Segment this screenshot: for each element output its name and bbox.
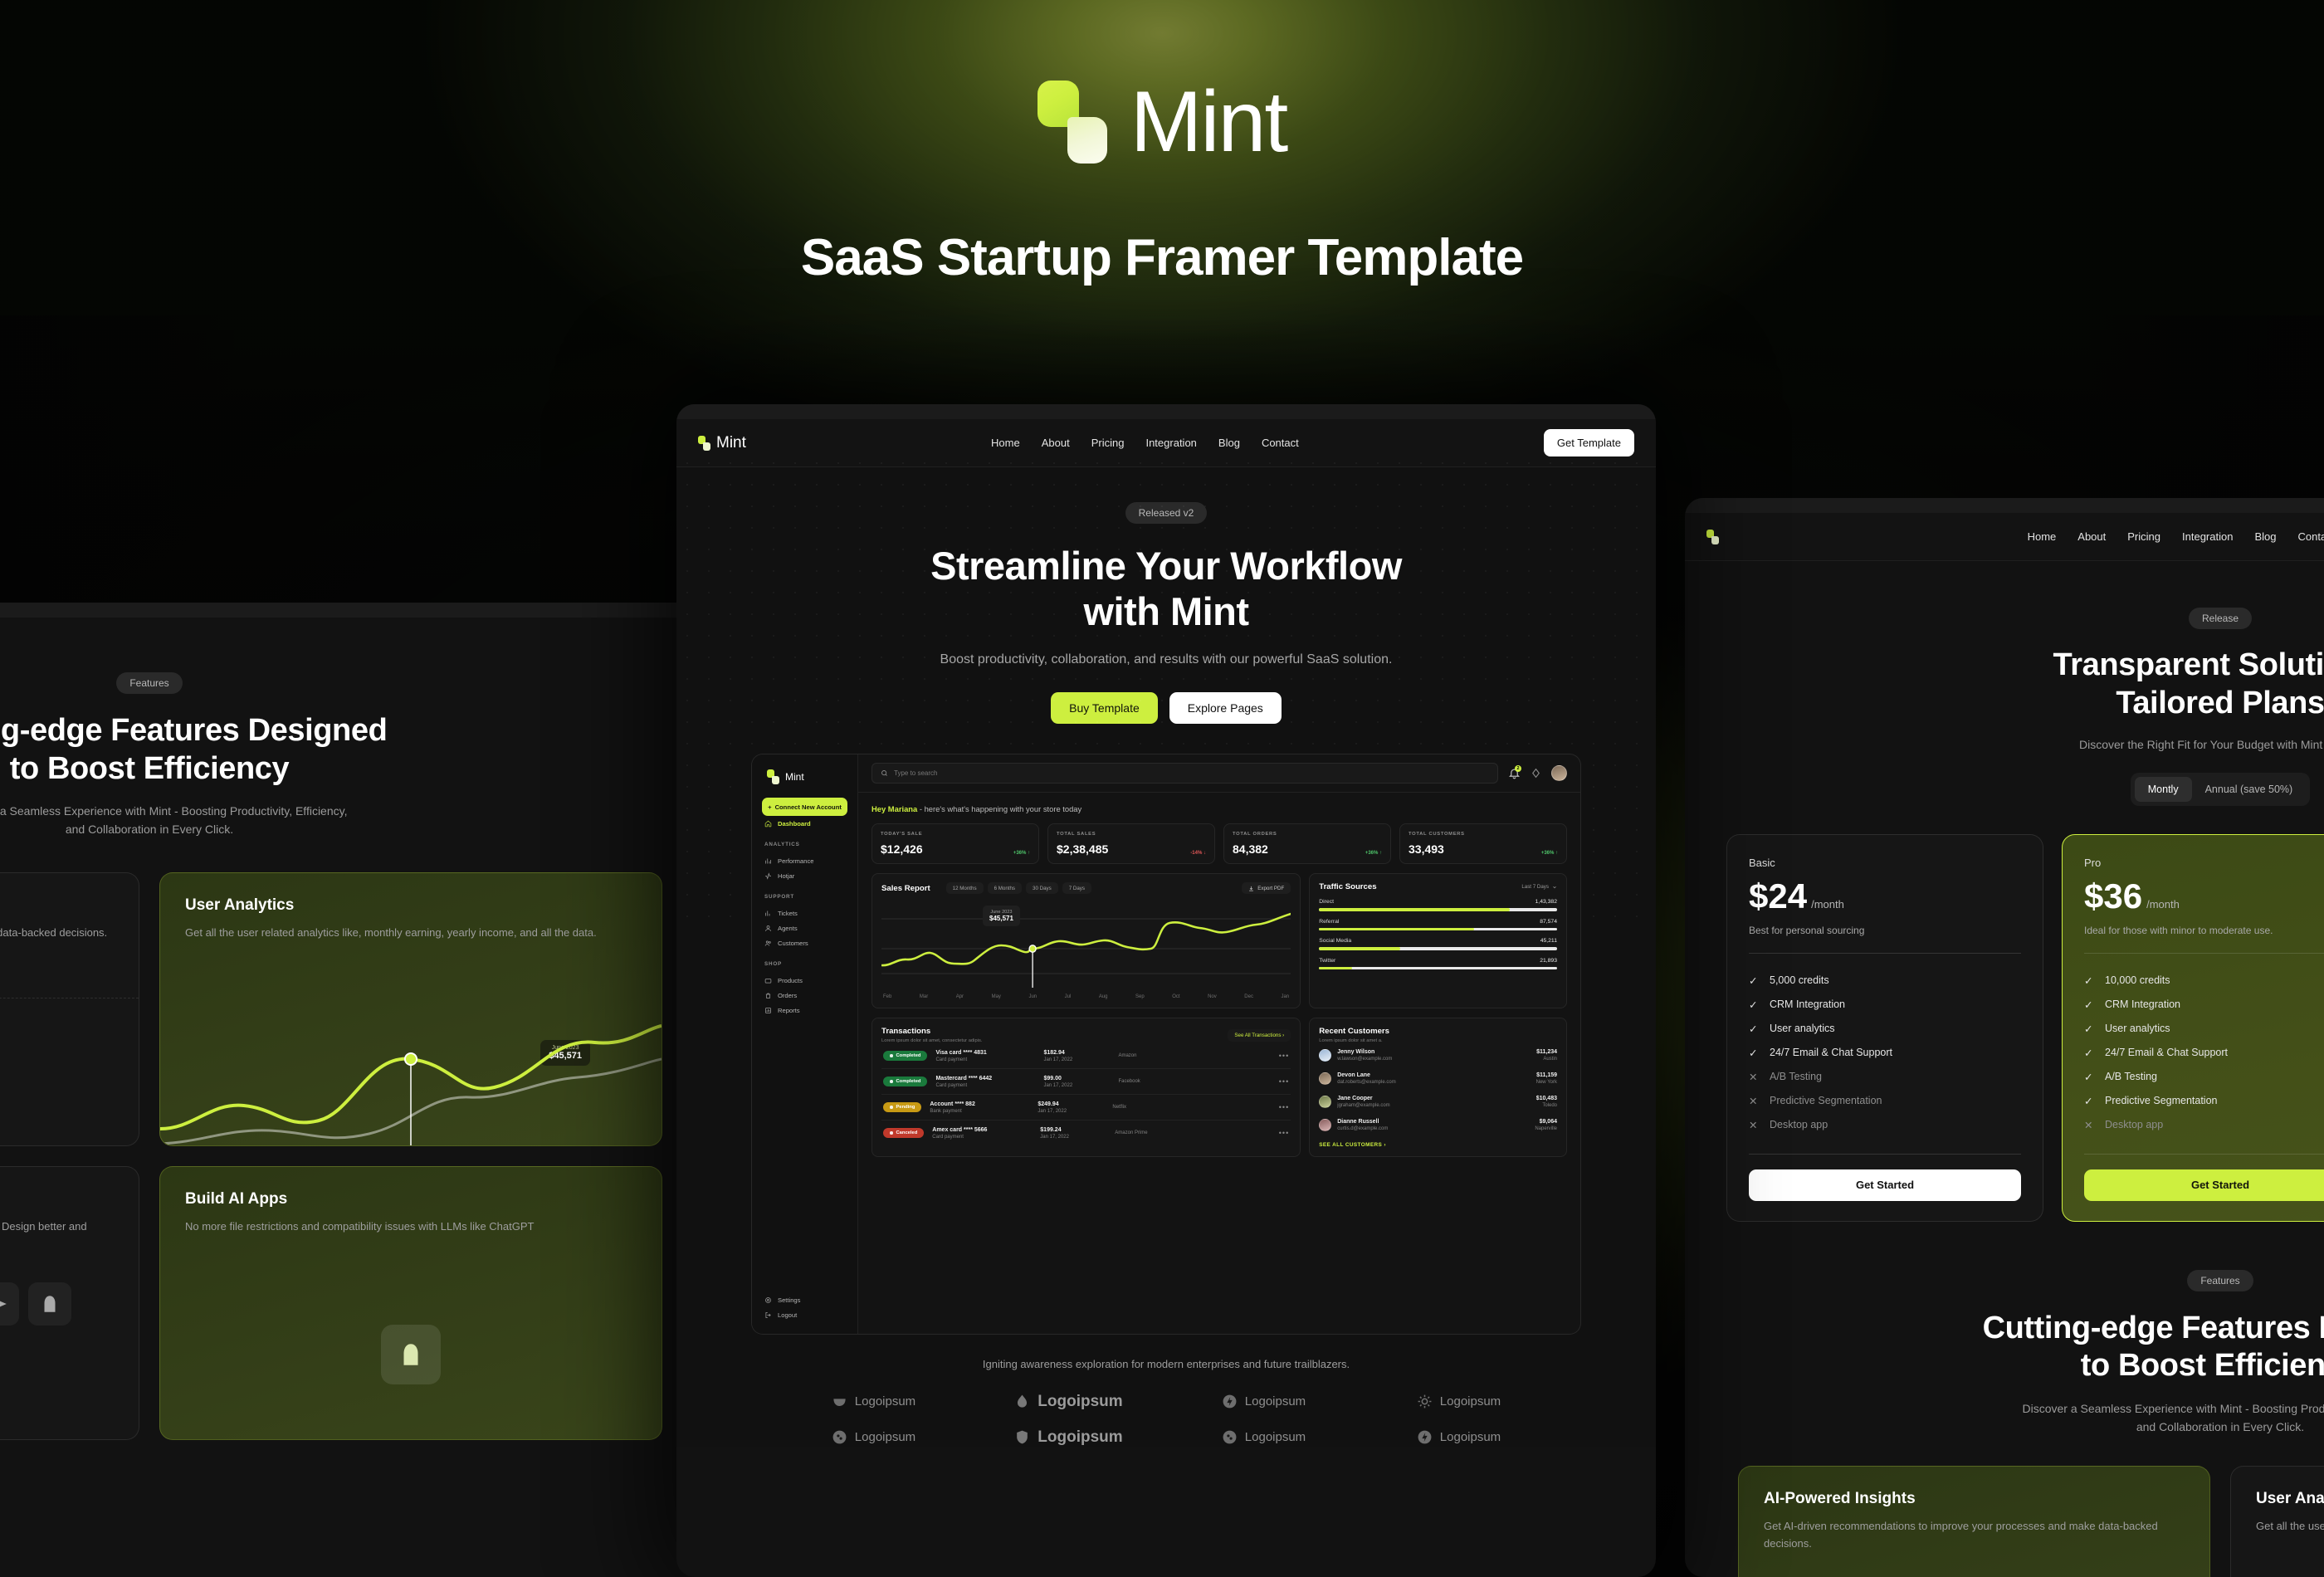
recent-customers-panel: Recent Customers Lorem ipsum dolor sit a… <box>1309 1018 1567 1157</box>
integration-icon-grid <box>0 1282 114 1378</box>
stat-card-row: TODAY'S SALE $12,426+36% ↑ TOTAL SALES $… <box>871 823 1567 864</box>
chart-tooltip: June 2023 $45,571 <box>983 906 1020 926</box>
x-tick: Apr <box>956 994 964 999</box>
explore-pages-button[interactable]: Explore Pages <box>1169 692 1282 724</box>
nav-link-integration[interactable]: Integration <box>2182 530 2233 543</box>
pricing-header: Release Transparent Solutions, Tailored … <box>1685 561 2324 806</box>
sidebar-item-tickets[interactable]: Tickets <box>762 906 847 920</box>
sidebar-section-support: SUPPORT <box>764 894 847 900</box>
feature-line-chart <box>160 1004 662 1145</box>
features-card-grid: AI-Powered Insights Get AI-driven recomm… <box>0 839 730 1440</box>
partner-logo: Logoipsum <box>776 1392 971 1411</box>
traffic-row-social-media: Social Media45,211 <box>1319 938 1557 950</box>
check-icon: ✓ <box>2084 1095 2096 1106</box>
pricing-title-line1: Transparent Solutions, <box>1685 646 2324 684</box>
nav-link-contact[interactable]: Contact <box>2297 530 2324 543</box>
customer-email: curtis.d@example.com <box>1337 1126 1388 1131</box>
tx-merchant: Amazon <box>1118 1053 1176 1058</box>
table-row[interactable]: Canceled Amex card **** 5666Card payment… <box>881 1120 1291 1145</box>
features-sub-line2: and Collaboration in Every Click. <box>0 821 730 839</box>
customer-amount: $11,159 <box>1536 1072 1557 1078</box>
feature-card-title: User Analytics <box>2256 1490 2324 1508</box>
pricing-title-line2: Tailored Plans <box>1685 684 2324 722</box>
avatar <box>1319 1049 1331 1062</box>
feature-card-title: AI-Powered Insights <box>0 896 114 915</box>
stat-card-total-customers: TOTAL CUSTOMERS 33,493+36% ↑ <box>1399 823 1567 864</box>
customer-city: New York <box>1536 1080 1557 1085</box>
sidebar-item-label: Performance <box>778 857 813 865</box>
plan-name: Basic <box>1749 857 2021 869</box>
customer-amount: $11,234 <box>1536 1049 1557 1055</box>
users-icon <box>764 940 772 947</box>
traffic-name: Direct <box>1319 899 1334 905</box>
navbar-logo-text: Mint <box>716 434 746 452</box>
features-preview-window: Features Cutting-edge Features Designed … <box>0 603 730 1577</box>
stat-delta: -14% ↓ <box>1190 851 1206 856</box>
traffic-name: Twitter <box>1319 958 1335 964</box>
bar-chart-icon <box>764 857 772 865</box>
range-6-months[interactable]: 6 Months <box>988 882 1022 894</box>
sidebar-item-label: Hotjar <box>778 872 794 880</box>
stat-card-todays-sale: TODAY'S SALE $12,426+36% ↑ <box>871 823 1039 864</box>
pricing-card-basic[interactable]: Basic $24/month Best for personal sourci… <box>1726 834 2043 1222</box>
plan-period: /month <box>2146 898 2180 911</box>
tables-row: Transactions Lorem ipsum dolor sit amet,… <box>871 1018 1567 1157</box>
x-tick: Aug <box>1099 994 1108 999</box>
plan-feature: Desktop app <box>1770 1119 1828 1130</box>
nav-link-pricing[interactable]: Pricing <box>1091 437 1125 449</box>
sales-line-chart: June 2023 $45,571 <box>881 901 1291 992</box>
x-tick: Sep <box>1135 994 1145 999</box>
mint-mark-icon <box>698 436 710 451</box>
plan-feature: Desktop app <box>2105 1119 2163 1130</box>
check-icon: ✓ <box>1749 974 1760 986</box>
stat-value: $2,38,485 <box>1057 842 1108 856</box>
tx-date: Jan 17, 2022 <box>1043 1057 1110 1062</box>
range-7-days[interactable]: 7 Days <box>1062 882 1091 894</box>
range-12-months[interactable]: 12 Months <box>946 882 984 894</box>
sidebar-item-label: Orders <box>778 992 797 999</box>
feature-card-user-analytics[interactable]: User Analytics Get all the user related … <box>2230 1466 2324 1577</box>
features-title-line2: to Boost Efficiency <box>0 750 730 788</box>
greeting-rest: - here's what's happening with your stor… <box>917 804 1081 813</box>
plan-period: /month <box>1811 898 1844 911</box>
export-pdf-button[interactable]: Export PDF <box>1242 882 1291 894</box>
traffic-name: Social Media <box>1319 938 1351 944</box>
mint-mark-icon <box>767 769 779 784</box>
home-icon <box>764 820 772 828</box>
check-icon: ✓ <box>2084 998 2096 1010</box>
partner-logo: Logoipsum <box>971 1428 1166 1447</box>
check-icon: ✓ <box>2084 1071 2096 1082</box>
navbar-logo[interactable] <box>1706 530 1719 544</box>
droplet-icon <box>1014 1392 1030 1411</box>
pricing-subtitle: Discover the Right Fit for Your Budget w… <box>1685 738 2324 751</box>
dashboard-greeting: Hey Mariana - here's what's happening wi… <box>871 804 1567 813</box>
sidebar-item-logout[interactable]: Logout <box>762 1307 847 1322</box>
mint-logo-icon <box>1037 81 1107 164</box>
nav-link-blog[interactable]: Blog <box>2254 530 2276 543</box>
x-tick: Mar <box>920 994 928 999</box>
stat-delta: +36% ↑ <box>1013 851 1030 856</box>
partner-logo: Logoipsum <box>1166 1428 1361 1447</box>
features-badge: Features <box>116 672 182 694</box>
sidebar-item-agents[interactable]: Agents <box>762 920 847 935</box>
partner-logo: Logoipsum <box>1361 1392 1556 1411</box>
bolt-icon <box>1417 1429 1433 1445</box>
report-icon <box>764 1007 772 1014</box>
hero-title-line1: Streamline Your Workflow <box>676 544 1656 589</box>
x-tick: Feb <box>883 994 891 999</box>
logo-cloud: Logoipsum Logoipsum Logoipsum Logoipsum … <box>676 1392 1656 1447</box>
nav-link-home[interactable]: Home <box>991 437 1020 449</box>
pen-app-icon <box>381 1325 441 1384</box>
tx-date: Jan 17, 2022 <box>1037 1109 1104 1114</box>
feature-card-user-analytics[interactable]: User Analytics Get all the user related … <box>159 872 662 1146</box>
navbar-links: Home About Pricing Integration Blog Cont… <box>991 437 1299 449</box>
feature-card-desc: No more file restrictions and compatibil… <box>185 1218 637 1236</box>
see-all-transactions-link[interactable]: See All Transactions › <box>1228 1029 1291 1042</box>
status-badge: Pending <box>883 1102 921 1112</box>
notifications-bell-icon[interactable]: 2 <box>1508 767 1521 779</box>
sidebar-item-label: Dashboard <box>778 820 811 828</box>
stat-label: TOTAL ORDERS <box>1233 832 1382 837</box>
nav-link-about[interactable]: About <box>2077 530 2106 543</box>
plan-feature: User analytics <box>1770 1023 1835 1034</box>
status-badge: Completed <box>883 1077 927 1086</box>
tx-date: Jan 17, 2022 <box>1043 1083 1110 1088</box>
list-item[interactable]: Dianne Russellcurtis.d@example.com $9,06… <box>1319 1113 1557 1136</box>
table-row[interactable]: Completed Visa card **** 4831Card paymen… <box>881 1043 1291 1069</box>
window-titlebar <box>0 603 730 618</box>
check-icon: ✓ <box>1749 998 1760 1010</box>
stat-card-total-orders: TOTAL ORDERS 84,382+36% ↑ <box>1223 823 1391 864</box>
features-title-line2: to Boost Efficiency <box>1685 1347 2324 1385</box>
feature-card-build-ai-apps[interactable]: Build AI Apps No more file restrictions … <box>159 1166 662 1440</box>
tooltip-value: $45,571 <box>989 915 1013 922</box>
site-navbar: Mint Home About Pricing Integration Blog… <box>676 419 1656 467</box>
plan-feature: 24/7 Email & Chat Support <box>1770 1047 1892 1058</box>
sidebar-item-label: Agents <box>778 925 798 932</box>
search-input[interactable]: Type to search <box>871 763 1498 784</box>
chart-x-axis: Feb Mar Apr May Jun Jul Aug Sep Oct No <box>881 994 1291 999</box>
customers-title: Recent Customers <box>1319 1027 1557 1036</box>
sales-report-panel: Sales Report 12 Months 6 Months 30 Days … <box>871 873 1301 1008</box>
features-header-secondary: Features Cutting-edge Features Designed … <box>1685 1222 2324 1437</box>
plan-feature: Predictive Segmentation <box>2105 1095 2218 1106</box>
tx-merchant: Amazon Prime <box>1115 1130 1173 1135</box>
tx-merchant: Facebook <box>1118 1079 1176 1084</box>
x-tick: Jan <box>1281 994 1289 999</box>
tx-card: Account **** 882 <box>930 1101 1029 1107</box>
nav-link-contact[interactable]: Contact <box>1262 437 1299 449</box>
brand-header: Mint <box>0 79 2324 168</box>
sidebar-item-settings[interactable]: Settings <box>762 1292 847 1307</box>
shield-icon <box>1014 1428 1030 1447</box>
window-titlebar <box>1685 498 2324 513</box>
avatar <box>1319 1072 1331 1085</box>
plan-desc: Ideal for those with minor to moderate u… <box>2084 925 2324 936</box>
sidebar-item-label: Reports <box>778 1007 800 1014</box>
x-tick: Dec <box>1244 994 1253 999</box>
status-badge: Completed <box>883 1051 927 1061</box>
connect-new-account-button[interactable]: + Connect New Account <box>762 798 847 816</box>
partner-logo: Logoipsum <box>1166 1392 1361 1411</box>
customer-email: jgraham@example.com <box>1337 1103 1389 1108</box>
cross-icon: ✕ <box>2084 1119 2096 1130</box>
customer-city: Toledo <box>1536 1103 1557 1108</box>
clover-icon <box>832 1429 847 1445</box>
feature-card-desc: Design better and spend less time withou… <box>0 1218 114 1253</box>
sidebar-item-products[interactable]: Products <box>762 973 847 988</box>
avatar <box>1319 1119 1331 1131</box>
traffic-row-referral: Referral87,574 <box>1319 919 1557 931</box>
chevron-down-icon <box>1552 885 1557 890</box>
plan-desc: Best for personal sourcing <box>1749 925 2021 936</box>
plan-feature: A/B Testing <box>2105 1071 2157 1082</box>
pricing-card-pro[interactable]: Pro $36/month Ideal for those with minor… <box>2062 834 2324 1222</box>
dashboard-logo-text: Mint <box>785 771 804 783</box>
feature-card-desc: Get all the user related analytics like,… <box>2256 1518 2324 1535</box>
traffic-title: Traffic Sources <box>1319 882 1376 891</box>
nav-link-home[interactable]: Home <box>2028 530 2057 543</box>
feature-card-ai-insights[interactable]: AI-Powered Insights Get AI-driven recomm… <box>1738 1466 2210 1577</box>
stat-label: TOTAL CUSTOMERS <box>1409 832 1558 837</box>
features-sub-line2: and Collaboration in Every Click. <box>1685 1418 2324 1437</box>
features-header: Features Cutting-edge Features Designed … <box>0 618 730 839</box>
check-icon: ✓ <box>2084 1047 2096 1058</box>
traffic-range-dropdown[interactable]: Last 7 Days <box>1521 884 1557 890</box>
sparkle-icon <box>0 1282 19 1326</box>
customer-name: Jane Cooper <box>1337 1096 1389 1101</box>
feature-card-desc: Get AI-driven recommendations to improve… <box>0 925 114 942</box>
bag-icon <box>764 992 772 999</box>
list-item[interactable]: Jane Cooperjgraham@example.com $10,483To… <box>1319 1090 1557 1113</box>
traffic-value: 87,574 <box>1540 919 1557 925</box>
sidebar-item-hotjar[interactable]: Hotjar <box>762 868 847 883</box>
navbar-links: Home About Pricing Integration Blog Cont… <box>2028 530 2324 543</box>
range-30-days[interactable]: 30 Days <box>1026 882 1058 894</box>
features-badge: Features <box>2187 1270 2253 1291</box>
plan-feature: User analytics <box>2105 1023 2170 1034</box>
list-item[interactable]: Jenny Wilsonw.lawson@example.com $11,234… <box>1319 1043 1557 1067</box>
customer-email: dat.roberts@example.com <box>1337 1080 1395 1085</box>
dashboard-sidebar: Mint + Connect New Account Dashboard ANA… <box>752 754 858 1334</box>
plan-feature: Predictive Segmentation <box>1770 1095 1882 1106</box>
cross-icon: ✕ <box>1749 1071 1760 1082</box>
mint-mark-icon <box>1706 530 1719 544</box>
dashboard-main: Type to search 2 Hey Mariana - here's wh… <box>858 754 1580 1334</box>
stat-delta: +36% ↑ <box>1365 851 1382 856</box>
row-menu-icon[interactable]: ••• <box>1279 1052 1289 1060</box>
plan-feature: 24/7 Email & Chat Support <box>2105 1047 2228 1058</box>
tx-card: Visa card **** 4831 <box>935 1050 1035 1056</box>
plan-price: $24 <box>1749 876 1807 915</box>
search-icon <box>881 769 888 777</box>
feature-card-desc: Get all the user related analytics like,… <box>185 925 637 942</box>
dashboard-content: Hey Mariana - here's what's happening wi… <box>858 793 1580 1169</box>
nav-link-pricing[interactable]: Pricing <box>2127 530 2160 543</box>
plan-feature: 10,000 credits <box>2105 974 2170 986</box>
transactions-subtitle: Lorem ipsum dolor sit amet, consectetur … <box>881 1038 982 1043</box>
hero-section: Released v2 Streamline Your Workflow wit… <box>676 467 1656 1447</box>
customer-amount: $9,064 <box>1535 1119 1557 1125</box>
transactions-title: Transactions <box>881 1027 982 1036</box>
partner-logo: Logoipsum <box>776 1428 971 1447</box>
sales-range-tabs: 12 Months 6 Months 30 Days 7 Days <box>946 882 1091 894</box>
row-menu-icon[interactable]: ••• <box>1279 1103 1289 1111</box>
table-row[interactable]: Pending Account **** 882Bank payment $24… <box>881 1095 1291 1120</box>
activity-icon <box>764 872 772 880</box>
download-icon <box>1248 886 1254 891</box>
customer-name: Jenny Wilson <box>1337 1049 1392 1055</box>
features-title-line1: Cutting-edge Features Designed <box>0 712 730 750</box>
sidebar-section-analytics: ANALYTICS <box>764 842 847 847</box>
customer-amount: $10,483 <box>1536 1096 1557 1101</box>
x-tick: Oct <box>1172 994 1179 999</box>
x-tick: May <box>992 994 1001 999</box>
site-navbar: Home About Pricing Integration Blog Cont… <box>1685 513 2324 561</box>
tx-type: Card payment <box>935 1057 1035 1062</box>
stat-value: 33,493 <box>1409 842 1444 856</box>
billing-period-toggle[interactable]: Montly Annual (save 50%) <box>2131 773 2310 806</box>
tx-amount: $182.94 <box>1043 1050 1110 1056</box>
tx-date: Jan 17, 2022 <box>1040 1135 1106 1140</box>
cross-icon: ✕ <box>1749 1119 1760 1130</box>
tx-card: Mastercard **** 6442 <box>935 1076 1035 1081</box>
box-icon <box>764 977 772 984</box>
toggle-annual[interactable]: Annual (save 50%) <box>2192 777 2307 802</box>
stat-label: TODAY'S SALE <box>881 832 1030 837</box>
tx-amount: $99.00 <box>1043 1076 1110 1081</box>
feature-card-title: AI-Powered Insights <box>1764 1490 2185 1508</box>
dashboard-mockup: Mint + Connect New Account Dashboard ANA… <box>751 754 1581 1335</box>
customer-city: Naperville <box>1535 1126 1557 1131</box>
plan-cta-button[interactable]: Get Started <box>2084 1169 2324 1201</box>
check-icon: ✓ <box>2084 974 2096 986</box>
hero-badge: Released v2 <box>1125 502 1208 524</box>
sales-report-title: Sales Report <box>881 884 930 893</box>
user-icon <box>764 925 772 932</box>
sidebar-item-performance[interactable]: Performance <box>762 853 847 868</box>
row-menu-icon[interactable]: ••• <box>1279 1129 1289 1137</box>
window-titlebar <box>676 404 1656 419</box>
brand-name: Mint <box>1130 79 1286 165</box>
feature-card-desc: Get AI-driven recommendations to improve… <box>1764 1518 2185 1553</box>
tx-type: Card payment <box>932 1135 1032 1140</box>
buy-template-button[interactable]: Buy Template <box>1051 692 1158 724</box>
customer-city: Austin <box>1536 1057 1557 1062</box>
sidebar-item-reports[interactable]: Reports <box>762 1003 847 1018</box>
traffic-sources-panel: Traffic Sources Last 7 Days Direct1,43,3… <box>1309 873 1567 1008</box>
sidebar-item-customers[interactable]: Customers <box>762 935 847 950</box>
dashboard-logo[interactable]: Mint <box>767 769 847 784</box>
plan-feature: CRM Integration <box>2105 998 2180 1010</box>
see-all-customers-link[interactable]: SEE ALL CUSTOMERS › <box>1319 1142 1557 1148</box>
features-title-line1: Cutting-edge Features Designed <box>1685 1310 2324 1348</box>
settings-diamond-icon[interactable] <box>1531 768 1541 779</box>
sun-icon <box>1417 1394 1433 1409</box>
tx-merchant: Netflix <box>1112 1105 1170 1110</box>
list-item[interactable]: Devon Lanedat.roberts@example.com $11,15… <box>1319 1067 1557 1090</box>
status-badge: Canceled <box>883 1128 924 1138</box>
customer-name: Dianne Russell <box>1337 1119 1388 1125</box>
row-menu-icon[interactable]: ••• <box>1279 1077 1289 1086</box>
brand-tagline: SaaS Startup Framer Template <box>0 228 2324 287</box>
nav-link-integration[interactable]: Integration <box>1145 437 1196 449</box>
user-avatar[interactable] <box>1551 765 1567 781</box>
logout-icon <box>764 1311 772 1319</box>
tx-type: Card payment <box>935 1083 1035 1088</box>
pricing-card-grid: Basic $24/month Best for personal sourci… <box>1685 806 2324 1222</box>
nav-link-blog[interactable]: Blog <box>1218 437 1240 449</box>
partner-logo: Logoipsum <box>1361 1428 1556 1447</box>
traffic-row-direct: Direct1,43,382 <box>1319 899 1557 911</box>
plan-feature: CRM Integration <box>1770 998 1845 1010</box>
customer-name: Devon Lane <box>1337 1072 1395 1078</box>
charts-row: Sales Report 12 Months 6 Months 30 Days … <box>871 873 1567 1008</box>
navbar-logo[interactable]: Mint <box>698 434 746 452</box>
stat-delta: +36% ↑ <box>1541 851 1558 856</box>
feature-card-title: User Analytics <box>185 896 637 915</box>
tx-type: Bank payment <box>930 1109 1029 1114</box>
plan-feature: A/B Testing <box>1770 1071 1822 1082</box>
stat-value: 84,382 <box>1233 842 1268 856</box>
table-row[interactable]: Completed Mastercard **** 6442Card payme… <box>881 1069 1291 1095</box>
features-sub-line1: Discover a Seamless Experience with Mint… <box>1685 1400 2324 1418</box>
feature-card-ai-insights[interactable]: AI-Powered Insights Get AI-driven recomm… <box>0 872 139 1146</box>
check-icon: ✓ <box>2084 1023 2096 1034</box>
greeting-name: Hey Mariana <box>871 804 917 813</box>
plan-cta-button[interactable]: Get Started <box>1749 1169 2021 1201</box>
traffic-row-twitter: Twitter21,893 <box>1319 958 1557 970</box>
sidebar-item-label: Logout <box>778 1311 797 1319</box>
traffic-value: 1,43,382 <box>1535 899 1557 905</box>
feature-card-title: Build AI Apps <box>185 1190 637 1208</box>
cross-icon: ✕ <box>1749 1095 1760 1106</box>
nav-link-about[interactable]: About <box>1042 437 1070 449</box>
plus-icon: + <box>768 803 771 811</box>
notification-count-badge: 2 <box>1515 765 1521 772</box>
screenshot-root: Mint SaaS Startup Framer Template Featur… <box>0 0 2324 1577</box>
sidebar-item-orders[interactable]: Orders <box>762 988 847 1003</box>
pricing-preview-window: Home About Pricing Integration Blog Cont… <box>1685 498 2324 1577</box>
hero-title-line2: with Mint <box>676 589 1656 635</box>
pen-icon <box>28 1282 71 1326</box>
sidebar-item-dashboard[interactable]: Dashboard <box>762 816 847 831</box>
feature-card-integration[interactable]: Integration Design better and spend less… <box>0 1166 139 1440</box>
export-label: Export PDF <box>1257 886 1284 891</box>
dashboard-topbar: Type to search 2 <box>858 754 1580 793</box>
x-tick: Jul <box>1065 994 1072 999</box>
traffic-name: Referral <box>1319 919 1339 925</box>
main-preview-window: Mint Home About Pricing Integration Blog… <box>676 404 1656 1577</box>
plan-price: $36 <box>2084 876 2142 915</box>
sidebar-item-label: Customers <box>778 940 808 947</box>
avatar <box>1319 1096 1331 1108</box>
sidebar-item-label: Tickets <box>778 910 798 917</box>
get-template-button[interactable]: Get Template <box>1544 429 1634 456</box>
connect-label: Connect New Account <box>775 803 842 811</box>
sidebar-item-label: Settings <box>778 1296 800 1304</box>
tx-amount: $249.94 <box>1037 1101 1104 1107</box>
tx-card: Amex card **** 5666 <box>932 1127 1032 1133</box>
logo-cloud-tagline: Igniting awareness exploration for moder… <box>676 1358 1656 1370</box>
check-icon: ✓ <box>1749 1047 1760 1058</box>
features-card-grid-secondary: AI-Powered Insights Get AI-driven recomm… <box>1685 1436 2324 1577</box>
search-placeholder: Type to search <box>894 769 937 777</box>
toggle-monthly[interactable]: Montly <box>2135 777 2192 802</box>
